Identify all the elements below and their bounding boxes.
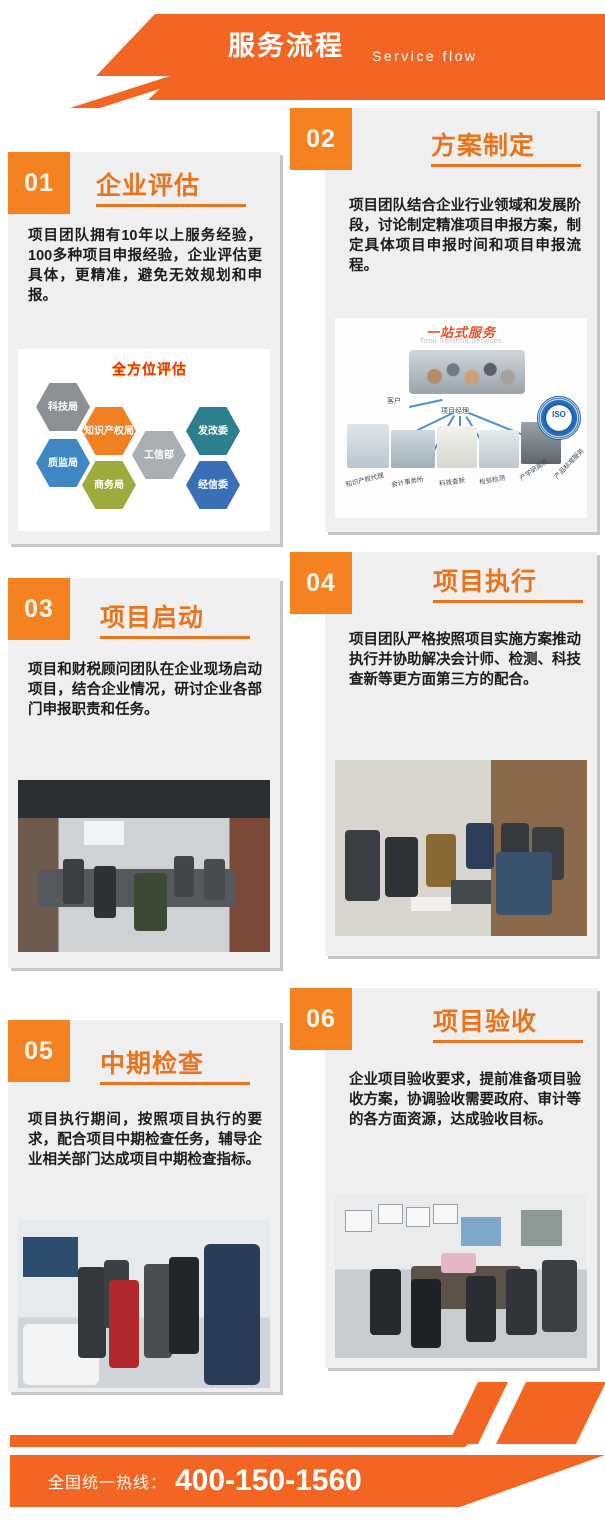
step-card-02-title: 方案制定 [431, 126, 535, 162]
oss-iso-seal [537, 396, 581, 440]
step-card-02-body: 方案制定 项目团队结合企业行业领域和发展阶段，讨论制定精准项目申报方案，制定具体… [325, 108, 597, 532]
step-number-03: 03 [8, 578, 70, 640]
step-card-04-text: 项目团队严格按照项目实施方案推动执行并协助解决会计师、检测、科技查新等更方面第三… [349, 630, 581, 690]
page-subtitle: Service flow [372, 34, 477, 78]
oss-label-ipr: 知识产权代理 [344, 469, 384, 488]
oss-label-novelty: 科技查新 [438, 474, 465, 488]
hex-chart-title: 全方位评估 [112, 359, 187, 379]
step-card-05-title: 中期检查 [100, 1044, 204, 1080]
oss-arrow-6 [409, 399, 443, 408]
hex-node-label: 质监局 [48, 458, 78, 469]
hex-node-gongxin: 工信部 [132, 431, 186, 479]
hex-node-label: 工信部 [144, 450, 174, 461]
step-card-04-title: 项目执行 [433, 562, 537, 598]
hex-chart: 全方位评估 科技局 知识产权局 发改委 质监局 工信部 商务局 经信委 [18, 349, 270, 531]
hex-node-ipr: 知识产权局 [82, 407, 136, 455]
oss-thumb-ipr [347, 424, 389, 468]
step-card-02-text: 项目团队结合企业行业领域和发展阶段，讨论制定精准项目申报方案，制定具体项目申报时… [349, 196, 581, 276]
hex-node-keji: 科技局 [36, 383, 90, 431]
step-card-04[interactable]: 项目执行 项目团队严格按照项目实施方案推动执行并协助解决会计师、检测、科技查新等… [325, 552, 597, 956]
step-card-05-text: 项目执行期间，按照项目执行的要求，配合项目中期检查任务，辅导企业相关部门达成项目… [28, 1110, 262, 1170]
hex-node-label: 科技局 [48, 402, 78, 413]
hex-node-label: 知识产权局 [84, 426, 134, 437]
header-band-secondary [0, 74, 605, 100]
footer-diagonal-1 [448, 1382, 508, 1444]
footer-hotline-label: 全国统一热线： [48, 1455, 167, 1507]
step-number-05: 05 [8, 1020, 70, 1082]
step-card-03-title: 项目启动 [100, 598, 204, 634]
step-number-02: 02 [290, 108, 352, 170]
oss-thumb-novelty [437, 426, 477, 468]
step-number-01: 01 [8, 152, 70, 214]
step-card-04-title-rule [433, 600, 583, 603]
hex-node-shangwu: 商务局 [82, 461, 136, 509]
step-number-06: 06 [290, 988, 352, 1050]
oss-hero-photo [409, 350, 525, 394]
step-card-01-title-rule [96, 204, 246, 207]
step-card-06-text: 企业项目验收要求，提前准备项目验收方案，协调验收需要政府、审计等的各方面资源，达… [349, 1070, 581, 1130]
step-card-05-title-rule [100, 1082, 250, 1085]
hex-node-label: 经信委 [198, 480, 228, 491]
oss-subtitle: Total Solution Services [335, 338, 587, 345]
page-header: 服务流程 Service flow [0, 0, 605, 108]
step-card-06[interactable]: 项目验收 企业项目验收要求，提前准备项目验收方案，协调验收需要政府、审计等的各方… [325, 988, 597, 1368]
step-card-06-body: 项目验收 企业项目验收要求，提前准备项目验收方案，协调验收需要政府、审计等的各方… [325, 988, 597, 1368]
footer-hotline-number[interactable]: 400-150-1560 [175, 1455, 362, 1507]
hex-node-zhijian: 质监局 [36, 439, 90, 487]
step-number-04: 04 [290, 552, 352, 614]
step-card-01-text: 项目团队拥有10年以上服务经验，100多种项目申报经验，企业评估更具体，更精准，… [28, 226, 262, 306]
hex-node-jingxin: 经信委 [186, 461, 240, 509]
step-card-01-title: 企业评估 [96, 166, 200, 202]
photo-conference [335, 1194, 587, 1358]
step-card-06-title-rule [433, 1040, 583, 1043]
step-card-02[interactable]: 方案制定 项目团队结合企业行业领域和发展阶段，讨论制定精准项目申报方案，制定具体… [325, 108, 597, 532]
oss-thumb-accounting [391, 430, 435, 468]
photo-meeting-room [18, 780, 270, 952]
photo-worktable [335, 760, 587, 936]
oss-node-customer: 客户 [387, 396, 401, 406]
footer-diagonal-2 [496, 1382, 605, 1444]
step-card-04-body: 项目执行 项目团队严格按照项目实施方案推动执行并协助解决会计师、检测、科技查新等… [325, 552, 597, 956]
photo-lobby-group [18, 1220, 270, 1388]
page-title: 服务流程 [228, 24, 344, 68]
hex-node-label: 商务局 [94, 480, 124, 491]
step-card-02-title-rule [431, 164, 581, 167]
oss-thumb-testing [479, 430, 519, 468]
step-card-06-title: 项目验收 [433, 1002, 537, 1038]
hex-node-label: 发改委 [198, 426, 228, 437]
oss-label-accounting: 会计事务所 [390, 473, 424, 488]
step-card-03-text: 项目和财税顾问团队在企业现场启动项目，结合企业情况，研讨企业各部门申报职责和任务… [28, 660, 262, 720]
oss-label-testing: 检验检测 [478, 472, 505, 486]
hex-node-fagai: 发改委 [186, 407, 240, 455]
step-card-03-title-rule [100, 636, 250, 639]
one-stop-service-infographic: 一站式服务 Total Solution Services 客户 项目经理 知识… [335, 318, 587, 518]
